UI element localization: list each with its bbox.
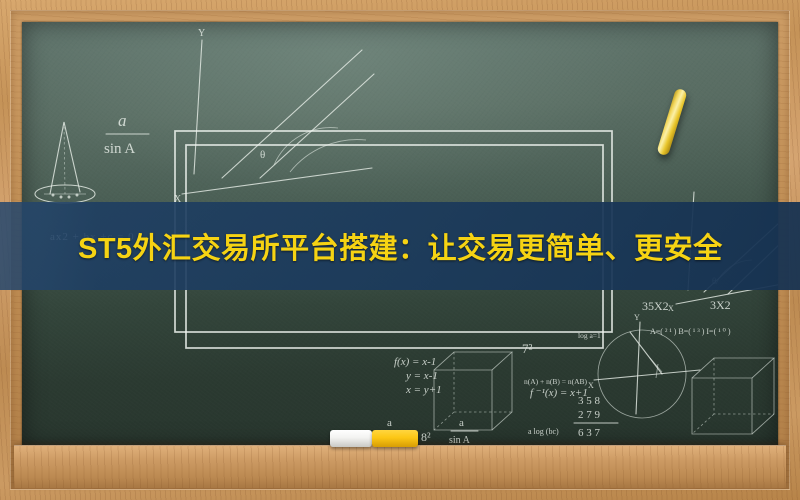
chalk-piece-white-on-ledge	[330, 430, 372, 447]
svg-text:a: a	[387, 417, 392, 429]
svg-text:f(x) = x-1: f(x) = x-1	[394, 356, 436, 368]
svg-text:Y: Y	[634, 313, 640, 322]
svg-text:Y: Y	[198, 28, 205, 39]
svg-text:X: X	[588, 381, 594, 390]
chalk-ledge	[14, 445, 786, 488]
svg-text:θ: θ	[260, 149, 265, 161]
seven-squared-text: 7²	[522, 341, 533, 356]
fraction-a-over-sin-a-topleft: a sin A	[104, 111, 149, 157]
set-expression-text: n(A) + n(B) = n(AB)	[524, 377, 588, 386]
svg-text:X: X	[668, 304, 674, 313]
svg-text:sin A: sin A	[104, 141, 135, 157]
chalk-piece-yellow-on-ledge	[372, 430, 418, 447]
poster-image: a sin A ax2 + bx +c = 0 Y X θ f	[0, 0, 800, 500]
page-title: ST5外汇交易所平台搭建：让交易更简单、更安全	[78, 225, 723, 267]
cube-drawing-center	[434, 352, 512, 430]
svg-text:a: a	[118, 111, 127, 130]
subtraction-problem: 3 5 8 2 7 9 6 3 7	[574, 395, 618, 439]
log-bc-text: a log (bc)	[528, 427, 559, 436]
fraction-a-over-sin-a-bottom-right: a sin A	[449, 417, 478, 446]
svg-text:x = y+1: x = y+1	[405, 384, 442, 396]
svg-text:y = x-1: y = x-1	[405, 370, 438, 382]
title-banner: ST5外汇交易所平台搭建：让交易更简单、更安全	[0, 202, 800, 290]
matrix-3x2-text: 3X2	[710, 298, 731, 312]
svg-text:a: a	[459, 417, 464, 429]
axis-angle-diagram-topleft: Y X θ	[174, 28, 374, 205]
cone-drawing	[35, 122, 95, 203]
eight-squared-text: 8²	[421, 430, 431, 444]
cube-drawing-right	[692, 358, 774, 434]
svg-text:2 7 9: 2 7 9	[578, 409, 601, 421]
matrix-35x2-text: 35X2	[642, 299, 669, 313]
svg-text:6 3 7: 6 3 7	[578, 427, 601, 439]
svg-text:3 5 8: 3 5 8	[578, 395, 601, 407]
log-a-equals-one-text: log a=1	[578, 331, 601, 340]
function-equations-block: f(x) = x-1 y = x-1 x = y+1	[394, 356, 442, 396]
